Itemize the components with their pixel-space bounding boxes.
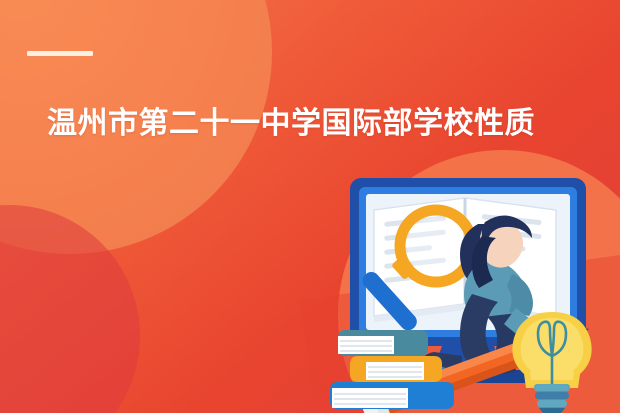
accent-rule [27,51,93,56]
promo-banner: 温州市第二十一中学国际部学校性质 [0,0,620,413]
illustration-student-on-pencil [330,170,620,413]
light-bulb-icon [512,312,591,413]
banner-headline: 温州市第二十一中学国际部学校性质 [47,104,587,144]
